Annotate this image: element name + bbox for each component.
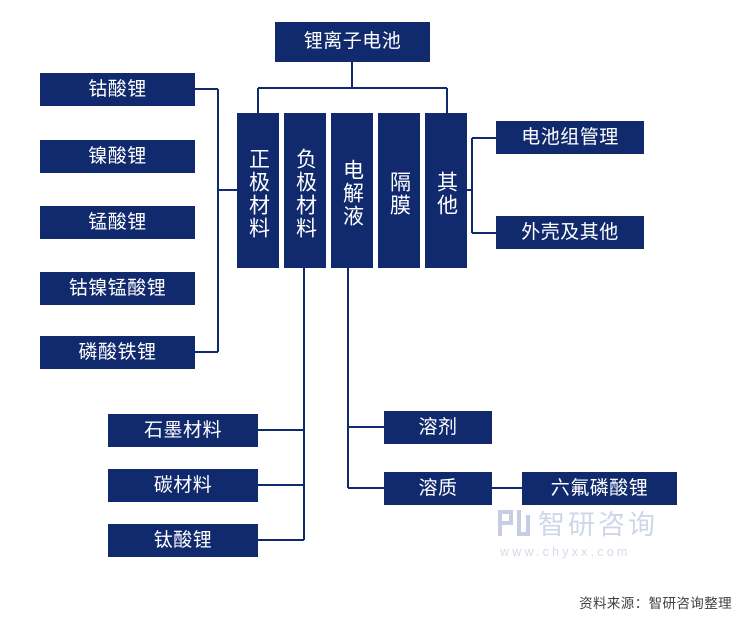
node-anode-material-1[interactable]: 石墨材料 — [108, 414, 258, 447]
node-cathode-material-2[interactable]: 镍酸锂 — [40, 140, 195, 173]
node-label: 镍酸锂 — [88, 146, 147, 168]
node-label: 碳材料 — [154, 475, 213, 497]
node-label: 六氟磷酸锂 — [551, 478, 649, 500]
node-cathode-material-1[interactable]: 钴酸锂 — [40, 73, 195, 106]
node-label: 负极材料 — [295, 148, 316, 240]
node-anode-material-3[interactable]: 钛酸锂 — [108, 524, 258, 557]
node-label: 其他 — [436, 171, 457, 217]
node-anode-material-2[interactable]: 碳材料 — [108, 469, 258, 502]
node-label: 隔膜 — [389, 171, 410, 217]
node-solute-detail[interactable]: 六氟磷酸锂 — [522, 472, 677, 505]
watermark-brand: 智研咨询 — [538, 503, 658, 542]
node-electrolyte-item-2[interactable]: 溶质 — [384, 472, 492, 505]
watermark-url: www.chyxx.com — [500, 545, 631, 559]
node-component-other[interactable]: 其他 — [425, 113, 467, 268]
watermark-top-row: 智研咨询 — [498, 503, 658, 542]
node-component-cathode[interactable]: 正极材料 — [237, 113, 279, 268]
brand-logo-icon — [498, 508, 530, 538]
node-label: 正极材料 — [248, 148, 269, 240]
node-label: 锂离子电池 — [304, 31, 402, 53]
diagram-canvas: 锂离子电池 钴酸锂 镍酸锂 锰酸锂 钴镍锰酸锂 磷酸铁锂 正极材料 负极材料 电… — [0, 0, 750, 626]
node-label: 钴酸锂 — [88, 79, 147, 101]
node-component-electrolyte[interactable]: 电解液 — [331, 113, 373, 268]
node-component-anode[interactable]: 负极材料 — [284, 113, 326, 268]
node-label: 磷酸铁锂 — [78, 342, 156, 364]
node-label: 外壳及其他 — [521, 222, 619, 244]
node-label: 钴镍锰酸锂 — [69, 278, 167, 300]
source-note: 资料来源：智研咨询整理 — [579, 592, 732, 612]
node-cathode-material-4[interactable]: 钴镍锰酸锂 — [40, 272, 195, 305]
node-cathode-material-3[interactable]: 锰酸锂 — [40, 206, 195, 239]
node-label: 锰酸锂 — [88, 212, 147, 234]
node-component-separator[interactable]: 隔膜 — [378, 113, 420, 268]
node-root[interactable]: 锂离子电池 — [275, 22, 430, 62]
node-label: 溶质 — [418, 478, 457, 500]
node-label: 石墨材料 — [144, 420, 222, 442]
node-label: 电池组管理 — [521, 127, 619, 149]
node-other-item-2[interactable]: 外壳及其他 — [496, 216, 644, 249]
node-cathode-material-5[interactable]: 磷酸铁锂 — [40, 336, 195, 369]
node-other-item-1[interactable]: 电池组管理 — [496, 121, 644, 154]
node-label: 钛酸锂 — [154, 530, 213, 552]
watermark: 智研咨询 www.chyxx.com — [498, 503, 728, 559]
node-label: 溶剂 — [418, 417, 457, 439]
node-label: 电解液 — [342, 159, 363, 228]
node-electrolyte-item-1[interactable]: 溶剂 — [384, 411, 492, 444]
